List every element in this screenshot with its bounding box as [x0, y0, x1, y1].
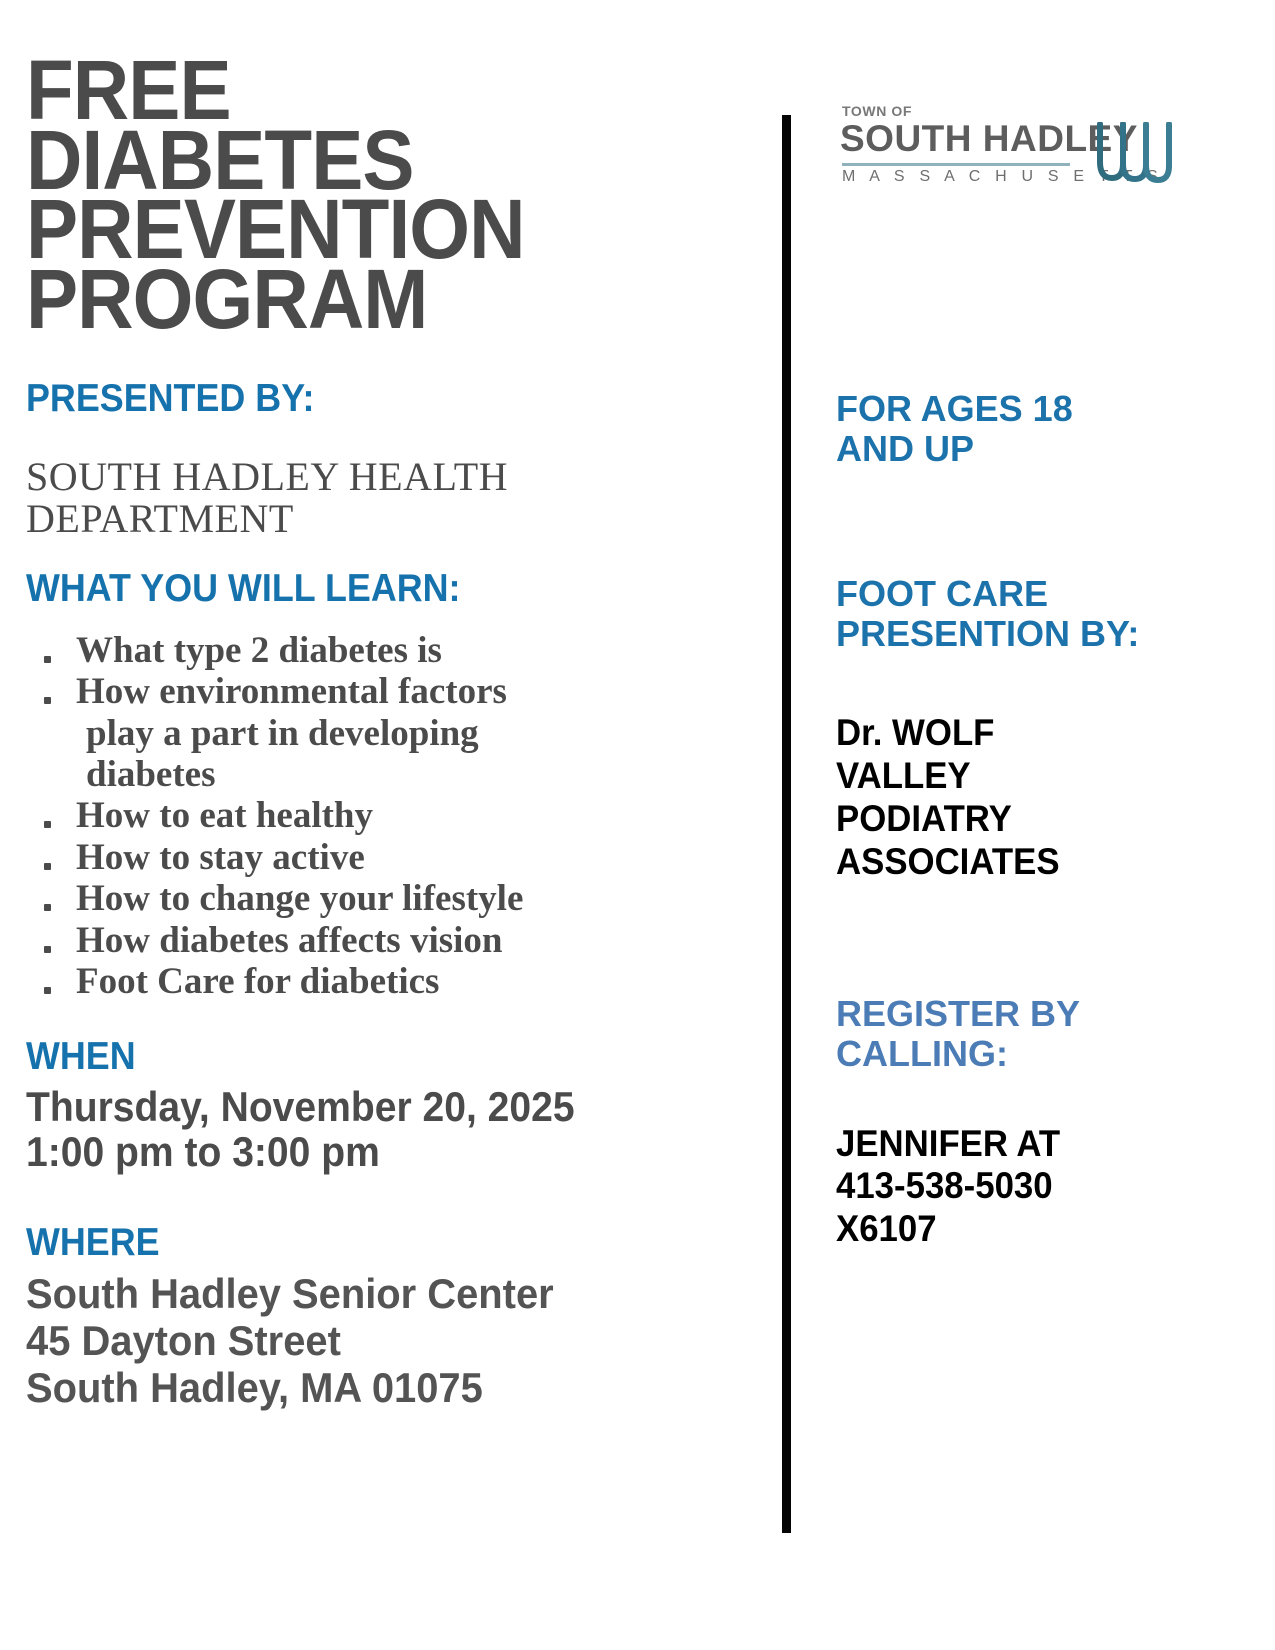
venue-name: South Hadley Senior Center — [26, 1270, 691, 1317]
where-details: South Hadley Senior Center 45 Dayton Str… — [26, 1270, 691, 1411]
logo-town-of-text: TOWN OF — [842, 104, 1166, 118]
headline-line-4: PROGRAM — [26, 265, 677, 335]
register-line-1: REGISTER BY — [836, 994, 1216, 1034]
event-time: 1:00 pm to 3:00 pm — [26, 1129, 677, 1175]
when-heading: WHEN — [26, 1037, 670, 1076]
left-column: FREE DIABETES PREVENTION PROGRAM PRESENT… — [26, 56, 726, 1411]
register-contact: JENNIFER AT 413-538-5030 X6107 — [836, 1123, 1193, 1252]
foot-care-heading: FOOT CARE PRESENTION BY: — [836, 574, 1216, 655]
venue-street: 45 Dayton Street — [26, 1317, 691, 1364]
list-item-text: How to stay active — [76, 837, 726, 878]
town-logo: TOWN OF SOUTH HADLEY M A S S A C H U S E… — [836, 104, 1166, 199]
contact-phone: 413-538-5030 — [836, 1165, 1193, 1208]
list-item: How diabetes affects vision — [26, 920, 726, 961]
bullet-dot-icon — [44, 946, 51, 953]
when-details: Thursday, November 20, 2025 1:00 pm to 3… — [26, 1084, 677, 1176]
wave-mark-icon — [1092, 122, 1178, 192]
presenter-line-1: Dr. WOLF — [836, 712, 1193, 755]
bullet-dot-icon — [44, 987, 51, 994]
contact-extension: X6107 — [836, 1208, 1193, 1251]
presenting-organization: SOUTH HADLEY HEALTH DEPARTMENT — [26, 456, 726, 541]
list-item-text: How diabetes affects vision — [76, 920, 726, 961]
flyer-headline: FREE DIABETES PREVENTION PROGRAM — [26, 56, 677, 335]
bullet-dot-icon — [44, 697, 51, 704]
presenter-line-2: VALLEY — [836, 755, 1193, 798]
list-item: How environmental factors play a part in… — [26, 671, 726, 795]
ages-line-1: FOR AGES 18 — [836, 389, 1216, 429]
presented-by-heading: PRESENTED BY: — [26, 379, 670, 418]
register-line-2: CALLING: — [836, 1034, 1216, 1074]
list-item-text: What type 2 diabetes is — [76, 630, 726, 671]
list-item-text: Foot Care for diabetics — [76, 961, 726, 1002]
bullet-dot-icon — [44, 821, 51, 828]
register-heading: REGISTER BY CALLING: — [836, 994, 1216, 1075]
org-line-2: DEPARTMENT — [26, 498, 726, 540]
list-item-text: How to change your lifestyle — [76, 878, 726, 919]
org-line-1: SOUTH HADLEY HEALTH — [26, 456, 726, 498]
ages-block: FOR AGES 18 AND UP — [836, 389, 1216, 470]
foot-care-line-1: FOOT CARE — [836, 574, 1216, 614]
right-column: TOWN OF SOUTH HADLEY M A S S A C H U S E… — [836, 104, 1216, 1251]
contact-name: JENNIFER AT — [836, 1123, 1193, 1166]
list-item: What type 2 diabetes is — [26, 630, 726, 671]
what-you-will-learn-heading: WHAT YOU WILL LEARN: — [26, 569, 670, 608]
event-date: Thursday, November 20, 2025 — [26, 1084, 677, 1130]
learn-list: What type 2 diabetes is How environmenta… — [26, 630, 726, 1003]
list-item: How to change your lifestyle — [26, 878, 726, 919]
list-item-continuation: play a part in developing — [76, 713, 726, 754]
list-item: Foot Care for diabetics — [26, 961, 726, 1002]
foot-care-line-2: PRESENTION BY: — [836, 614, 1216, 654]
bullet-dot-icon — [44, 904, 51, 911]
vertical-divider — [782, 115, 791, 1533]
list-item: How to stay active — [26, 837, 726, 878]
logo-divider-rule — [842, 163, 1070, 166]
where-heading: WHERE — [26, 1223, 670, 1262]
list-item-text: How environmental factors — [76, 671, 726, 712]
list-item-continuation: diabetes — [76, 754, 726, 795]
list-item: How to eat healthy — [26, 795, 726, 836]
flyer-page: FREE DIABETES PREVENTION PROGRAM PRESENT… — [0, 0, 1275, 1650]
ages-line-2: AND UP — [836, 429, 1216, 469]
bullet-dot-icon — [44, 656, 51, 663]
presenter-line-4: ASSOCIATES — [836, 841, 1193, 884]
foot-care-presenter: Dr. WOLF VALLEY PODIATRY ASSOCIATES — [836, 712, 1193, 884]
bullet-dot-icon — [44, 863, 51, 870]
venue-city-state-zip: South Hadley, MA 01075 — [26, 1364, 691, 1411]
list-item-text: How to eat healthy — [76, 795, 726, 836]
presenter-line-3: PODIATRY — [836, 798, 1193, 841]
